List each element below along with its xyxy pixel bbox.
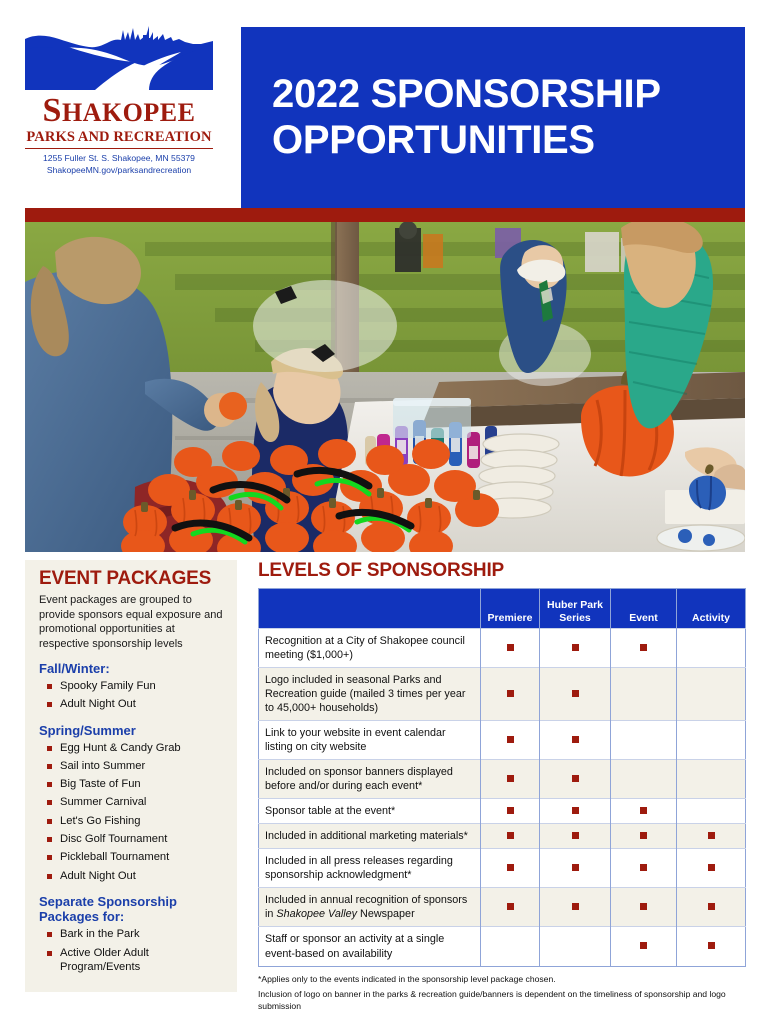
main-heading: LEVELS OF SPONSORSHIP [258,560,746,582]
mark-premiere [481,888,540,927]
check-square-icon [572,864,579,871]
logo-wordmark: SHAKOPEE [25,94,213,128]
mark-event [611,799,677,824]
mark-premiere [481,721,540,760]
red-divider-bar [25,208,745,222]
sponsorship-levels-table: Premiere Huber Park Series Event Activit… [258,588,746,967]
levels-of-sponsorship-section: LEVELS OF SPONSORSHIP Premiere Huber Par… [258,560,746,1016]
check-square-icon [640,644,647,651]
table-row: Included on sponsor banners displayed be… [259,760,746,799]
check-square-icon [572,807,579,814]
table-header-row: Premiere Huber Park Series Event Activit… [259,589,746,629]
sidebar-heading: EVENT PACKAGES [39,568,225,590]
mark-activity [677,799,746,824]
mark-huber-park-series [540,721,611,760]
sidebar-list-spring-summer: Egg Hunt & Candy Grab Sail into Summer B… [47,741,225,884]
website-url[interactable]: ShakopeeMN.gov/parksandrecreation [25,165,213,177]
check-square-icon [507,903,514,910]
mark-event [611,760,677,799]
sidebar-intro-text: Event packages are grouped to provide sp… [39,593,225,652]
mark-huber-park-series [540,927,611,966]
check-square-icon [572,644,579,651]
benefit-label: Logo included in seasonal Parks and Recr… [259,668,481,721]
mark-activity [677,629,746,668]
table-footnotes: *Applies only to the events indicated in… [258,974,746,1013]
mark-activity [677,888,746,927]
column-header-activity: Activity [677,589,746,629]
mark-event [611,888,677,927]
footnote-asterisk: *Applies only to the events indicated in… [258,974,746,986]
event-packages-sidebar: EVENT PACKAGES Event packages are groupe… [25,560,237,992]
footnote-logo-timeliness: Inclusion of logo on banner in the parks… [258,989,746,1012]
mark-premiere [481,799,540,824]
check-square-icon [507,832,514,839]
check-square-icon [572,832,579,839]
sidebar-list-separate-packages: Bark in the Park Active Older Adult Prog… [47,927,225,975]
mark-premiere [481,760,540,799]
mark-event [611,824,677,849]
mark-event [611,721,677,760]
mark-premiere [481,668,540,721]
list-item: Disc Golf Tournament [47,832,225,847]
shakopee-riverscape-logo-icon [25,22,213,90]
benefit-label: Link to your website in event calendar l… [259,721,481,760]
sidebar-group-heading-fall-winter: Fall/Winter: [39,661,225,676]
sidebar-group-heading-separate-packages: Separate Sponsorship Packages for: [39,894,225,924]
list-item: Big Taste of Fun [47,777,225,792]
mark-activity [677,849,746,888]
list-item: Adult Night Out [47,869,225,884]
mark-huber-park-series [540,799,611,824]
benefit-text-post: Newspaper [357,908,415,920]
column-header-huber-park-series: Huber Park Series [540,589,611,629]
table-row: Staff or sponsor an activity at a single… [259,927,746,966]
mark-event [611,927,677,966]
check-square-icon [708,942,715,949]
check-square-icon [708,864,715,871]
check-square-icon [507,644,514,651]
check-square-icon [572,690,579,697]
benefit-label: Included on sponsor banners displayed be… [259,760,481,799]
list-item: Adult Night Out [47,697,225,712]
check-square-icon [640,864,647,871]
table-row: Sponsor table at the event* [259,799,746,824]
check-square-icon [640,832,647,839]
mark-huber-park-series [540,668,611,721]
mark-huber-park-series [540,888,611,927]
check-square-icon [640,942,647,949]
list-item: Egg Hunt & Candy Grab [47,741,225,756]
sidebar-group-heading-spring-summer: Spring/Summer [39,723,225,738]
logo-wordmark-initial: S [43,92,62,129]
list-item: Let's Go Fishing [47,814,225,829]
mark-huber-park-series [540,629,611,668]
table-row: Link to your website in event calendar l… [259,721,746,760]
mark-premiere [481,849,540,888]
benefit-label: Included in additional marketing materia… [259,824,481,849]
check-square-icon [708,903,715,910]
check-square-icon [507,690,514,697]
mark-activity [677,927,746,966]
mark-premiere [481,927,540,966]
page-header: SHAKOPEE PARKS AND RECREATION 1255 Fulle… [0,0,770,208]
page-title-banner: 2022 SPONSORSHIP OPPORTUNITIES [241,27,745,208]
mark-huber-park-series [540,824,611,849]
page-title-line-1: 2022 SPONSORSHIP [272,72,745,117]
list-item: Sail into Summer [47,759,225,774]
benefit-label: Included in all press releases regarding… [259,849,481,888]
mark-huber-park-series [540,849,611,888]
table-row: Included in additional marketing materia… [259,824,746,849]
mark-huber-park-series [540,760,611,799]
check-square-icon [507,775,514,782]
mark-event [611,849,677,888]
column-header-premiere: Premiere [481,589,540,629]
list-item: Summer Carnival [47,795,225,810]
list-item: Bark in the Park [47,927,225,942]
benefit-label: Included in annual recognition of sponso… [259,888,481,927]
address-line-1: 1255 Fuller St. S. Shakopee, MN 55379 [25,153,213,165]
benefit-label: Staff or sponsor an activity at a single… [259,927,481,966]
check-square-icon [507,864,514,871]
table-row: Included in all press releases regarding… [259,849,746,888]
event-photo [25,222,745,552]
mark-activity [677,824,746,849]
table-row: Recognition at a City of Shakopee counci… [259,629,746,668]
logo-wordmark-rest: HAKOPEE [62,98,196,127]
page-title-line-2: OPPORTUNITIES [272,118,745,163]
list-item: Active Older Adult Program/Events [47,946,225,976]
mark-activity [677,760,746,799]
table-row: Logo included in seasonal Parks and Recr… [259,668,746,721]
shakopee-parks-logo: SHAKOPEE PARKS AND RECREATION 1255 Fulle… [25,22,221,176]
check-square-icon [640,807,647,814]
check-square-icon [507,736,514,743]
check-square-icon [708,832,715,839]
benefit-label: Sponsor table at the event* [259,799,481,824]
logo-address: 1255 Fuller St. S. Shakopee, MN 55379 Sh… [25,153,213,176]
benefit-label: Recognition at a City of Shakopee counci… [259,629,481,668]
mark-premiere [481,824,540,849]
check-square-icon [572,736,579,743]
check-square-icon [572,903,579,910]
check-square-icon [507,807,514,814]
mark-event [611,668,677,721]
mark-premiere [481,629,540,668]
table-row: Included in annual recognition of sponso… [259,888,746,927]
sponsorship-flyer-page: SHAKOPEE PARKS AND RECREATION 1255 Fulle… [0,0,770,1024]
list-item: Pickleball Tournament [47,850,225,865]
mark-event [611,629,677,668]
mark-activity [677,668,746,721]
column-header-benefit [259,589,481,629]
mark-activity [677,721,746,760]
benefit-text-italic: Shakopee Valley [276,908,357,920]
logo-subtitle: PARKS AND RECREATION [25,129,213,149]
check-square-icon [572,775,579,782]
column-header-event: Event [611,589,677,629]
list-item: Spooky Family Fun [47,679,225,694]
sidebar-list-fall-winter: Spooky Family Fun Adult Night Out [47,679,225,712]
check-square-icon [640,903,647,910]
